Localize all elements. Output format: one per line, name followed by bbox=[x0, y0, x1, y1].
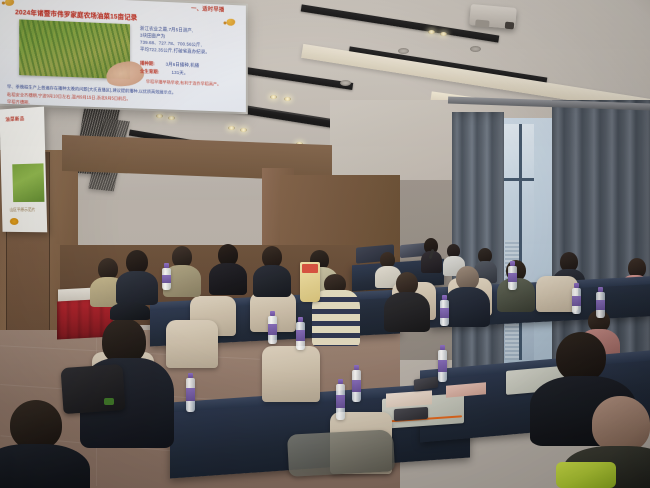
downlight-3 bbox=[270, 95, 277, 99]
ceiling-vent-2 bbox=[470, 46, 481, 52]
banner-bottom-text: 山区平原示范片 bbox=[10, 208, 36, 213]
window-mullion-horizontal bbox=[504, 178, 534, 181]
downlight-11 bbox=[428, 30, 435, 34]
slide-label-sowing: 播种期: bbox=[140, 61, 155, 68]
water-bottle-4[interactable] bbox=[336, 384, 345, 420]
curtain-left bbox=[452, 112, 504, 382]
water-bottle-7[interactable] bbox=[440, 300, 449, 326]
chair-f4 bbox=[166, 320, 218, 368]
downlight-5 bbox=[156, 114, 163, 118]
slide-body-line-2: 3块田亩产为 bbox=[140, 33, 165, 40]
banner-seal-icon bbox=[10, 218, 19, 225]
pencil-case-icon[interactable] bbox=[394, 407, 428, 421]
cap-icon bbox=[110, 302, 150, 320]
banner-crop-image bbox=[12, 163, 44, 202]
downlight-8 bbox=[240, 128, 247, 132]
slide-heading: 一、适时早播 bbox=[191, 4, 224, 13]
water-bottle-10[interactable] bbox=[162, 268, 171, 290]
plastic-bag-icon[interactable] bbox=[287, 429, 395, 476]
ceiling-vent-1 bbox=[398, 48, 409, 54]
slide-label-growth: 全生育期: bbox=[140, 69, 159, 76]
window-mullion-vertical bbox=[519, 124, 522, 360]
conference-room-photo: 一、适时早播 2024年诸暨市伟罗家庭农场油菜15亩记录 浙江农业之最,7月5日… bbox=[0, 0, 650, 488]
ceiling-vent-3 bbox=[340, 80, 351, 86]
snack-bag-icon[interactable] bbox=[300, 262, 320, 302]
slide-crop-photo bbox=[19, 19, 130, 79]
water-bottle-5[interactable] bbox=[268, 316, 277, 344]
projector-lens-icon bbox=[505, 22, 515, 30]
water-bottle-2[interactable] bbox=[352, 370, 361, 402]
chair-f2 bbox=[262, 346, 320, 402]
downlight-6 bbox=[168, 116, 175, 120]
downlight-12 bbox=[440, 32, 447, 36]
water-bottle-1[interactable] bbox=[186, 378, 195, 412]
slide-value-growth: 131天。 bbox=[172, 70, 189, 76]
banner-top-text: 油菜新品 bbox=[5, 116, 24, 123]
hi-vis-garment bbox=[556, 462, 616, 488]
water-bottle-3[interactable] bbox=[438, 350, 447, 382]
backpack-tag bbox=[104, 398, 114, 405]
roll-up-banner: 油菜新品 山区平原示范片 bbox=[0, 107, 47, 233]
downlight-7 bbox=[228, 126, 235, 130]
backpack-icon[interactable] bbox=[60, 364, 125, 414]
projection-screen: 一、适时早播 2024年诸暨市伟罗家庭农场油菜15亩记录 浙江农业之最,7月5日… bbox=[0, 0, 246, 112]
water-bottle-9[interactable] bbox=[572, 288, 581, 314]
water-bottle-11[interactable] bbox=[508, 266, 517, 290]
water-bottle-8[interactable] bbox=[596, 292, 605, 318]
downlight-4 bbox=[284, 97, 291, 101]
water-bottle-6[interactable] bbox=[296, 322, 305, 350]
